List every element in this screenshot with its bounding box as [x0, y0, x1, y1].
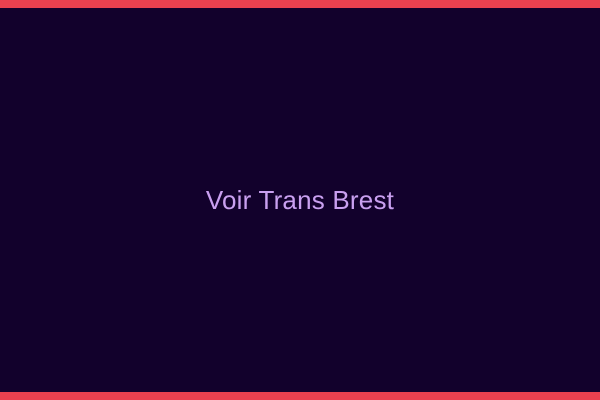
placeholder-card: Voir Trans Brest	[0, 0, 600, 400]
top-accent-bar	[0, 0, 600, 8]
bottom-accent-bar	[0, 392, 600, 400]
placeholder-title: Voir Trans Brest	[206, 187, 394, 213]
